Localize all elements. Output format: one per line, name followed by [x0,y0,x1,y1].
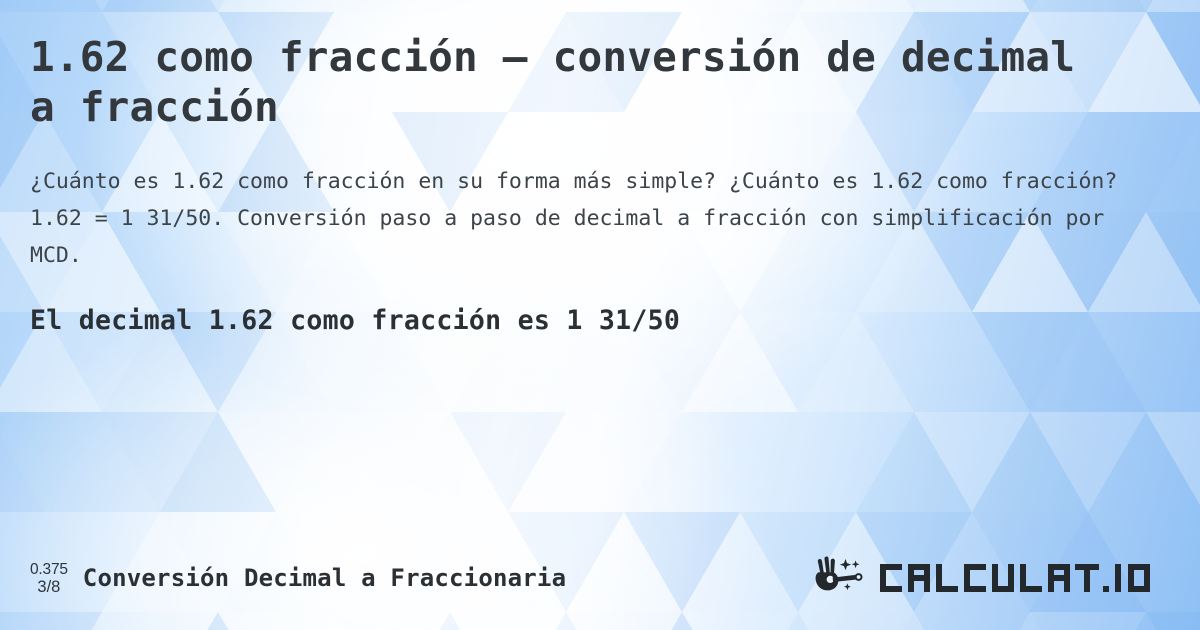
fraction-logo-fraction: 3/8 [30,578,68,596]
calculatio-wordmark [878,558,1178,598]
og-card: 1.62 como fracción – conversión de decim… [0,0,1200,630]
fraction-logo-decimal: 0.375 [30,561,68,578]
page-title: 1.62 como fracción – conversión de decim… [30,32,1090,132]
footer-brand-name: Conversión Decimal a Fraccionaria [83,564,566,592]
hand-wand-sparkles-icon [814,555,872,601]
card-content: 1.62 como fracción – conversión de decim… [0,0,1200,630]
fraction-logo-icon: 0.375 3/8 [30,559,68,597]
page-description: ¿Cuánto es 1.62 como fracción en su form… [30,163,1135,275]
footer-brand: 0.375 3/8 Conversión Decimal a Fracciona… [30,559,566,597]
footer: 0.375 3/8 Conversión Decimal a Fracciona… [30,550,1178,606]
site-logo[interactable] [814,555,1178,601]
answer-statement: El decimal 1.62 como fracción es 1 31/50 [30,305,1170,336]
